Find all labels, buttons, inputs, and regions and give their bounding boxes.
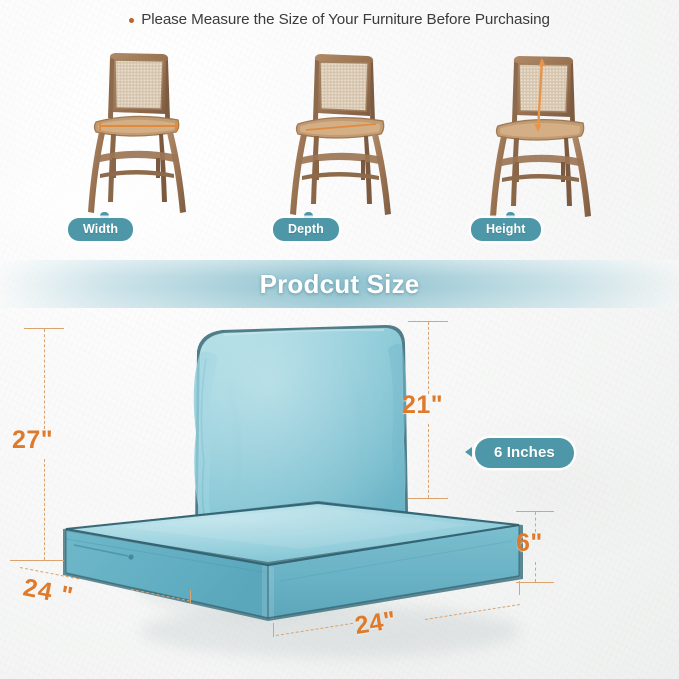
tick-width-end <box>519 581 520 595</box>
dash-21-upper <box>428 322 429 394</box>
seat-cushion <box>63 501 523 621</box>
chair-label-depth: Depth <box>273 218 339 241</box>
dash-21-lower <box>428 424 429 498</box>
cushion-diagram: 27" 21" 6 Inches 24 " <box>0 313 679 679</box>
dim-label-21: 21" <box>402 391 443 420</box>
dash-27-upper <box>44 329 45 429</box>
badge-6-inches[interactable]: 6 Inches <box>475 438 574 468</box>
dim-label-6: 6" <box>516 529 543 558</box>
tick-depth-end <box>190 590 191 604</box>
chair-label-height: Height <box>471 218 541 241</box>
chair-illustration-width <box>66 50 206 230</box>
chair-depth-group: Depth <box>240 45 440 250</box>
tick-6-bottom <box>516 582 554 583</box>
infographic-root: Please Measure the Size of Your Furnitur… <box>0 0 679 679</box>
chair-height-group: Height <box>442 45 642 250</box>
tick-21-bottom <box>408 498 448 499</box>
chair-measurement-row: Width <box>0 45 679 250</box>
banner-title: Prodcut Size <box>0 260 679 308</box>
chair-width-group: Width <box>36 45 236 250</box>
tick-depth-start <box>10 560 50 561</box>
header-text: Please Measure the Size of Your Furnitur… <box>141 11 550 28</box>
dash-27-lower <box>44 459 45 560</box>
product-size-banner: Prodcut Size <box>0 255 679 313</box>
dim-label-27: 27" <box>12 426 53 455</box>
left-arrow-icon <box>465 447 472 457</box>
chair-illustration-height <box>472 50 612 230</box>
header: Please Measure the Size of Your Furnitur… <box>0 11 679 28</box>
dash-6-lower <box>535 562 536 582</box>
bullet-dot-icon <box>129 18 134 23</box>
tick-width-start <box>273 623 274 637</box>
chair-illustration-depth <box>270 50 410 230</box>
chair-label-width: Width <box>68 218 133 241</box>
